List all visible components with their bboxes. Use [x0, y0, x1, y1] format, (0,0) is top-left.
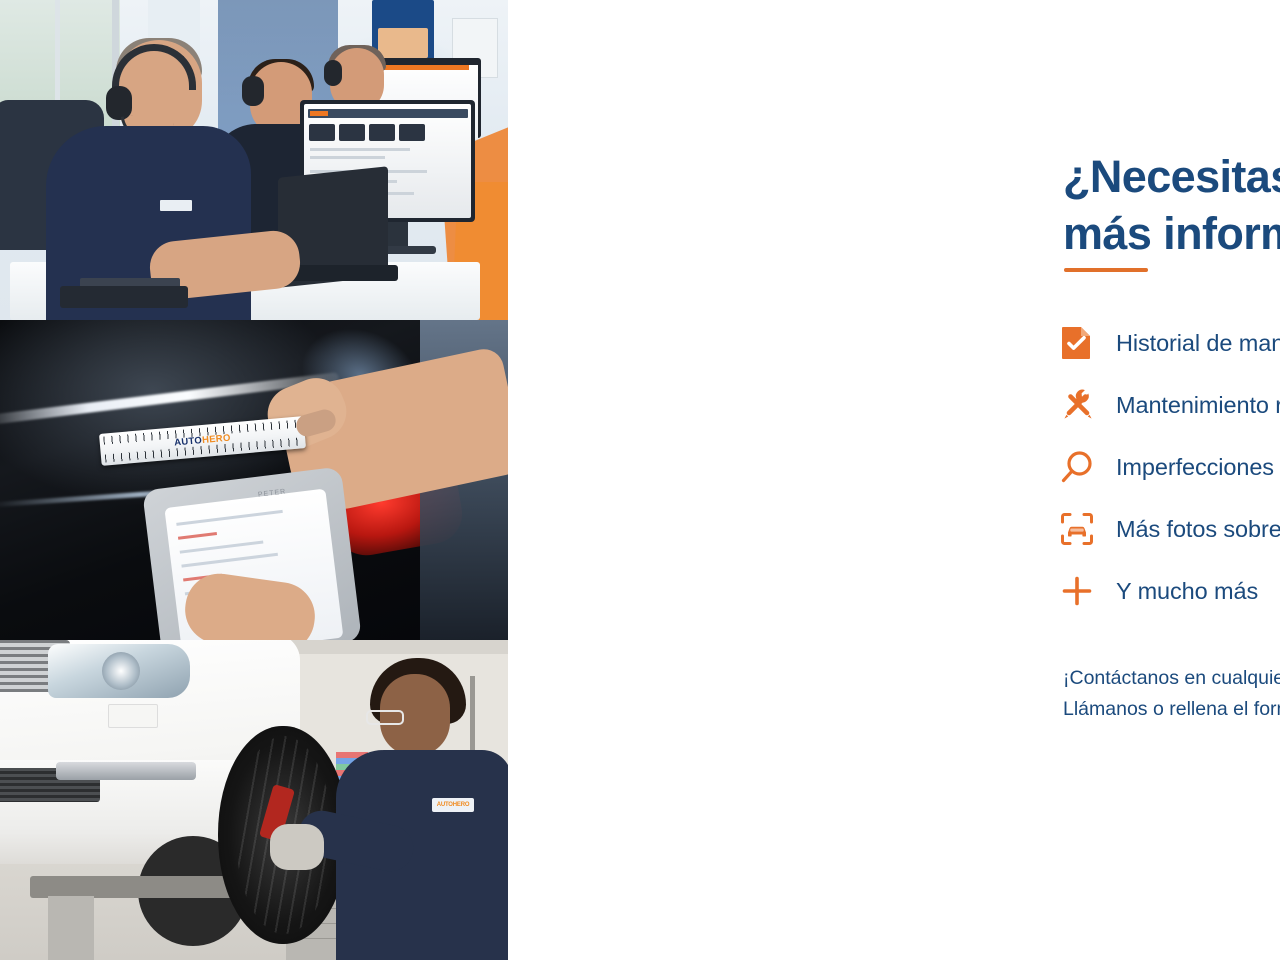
car-lift-leg-decor [48, 896, 94, 960]
magnifier-icon [1060, 450, 1116, 484]
car-scan-icon [1060, 512, 1116, 546]
photo-column: AUTOHERO PETER [0, 0, 508, 960]
feature-item-much-more: Y mucho más [1060, 560, 1280, 622]
feature-item-more-photos: Más fotos sobre el coche [1060, 498, 1280, 560]
bumper-chrome-trim-decor [56, 762, 196, 780]
title-underline-rule [1064, 268, 1148, 272]
promo-page: AUTOHERO PETER [0, 0, 1280, 960]
mechanic-wheel-photo: AUTOHERO [0, 640, 508, 960]
feature-label: Y mucho más [1116, 578, 1258, 605]
call-center-agents-photo [0, 0, 508, 320]
feature-label: Imperfecciones [1116, 454, 1274, 481]
desk-tablet-decor [60, 286, 188, 308]
wrench-screwdriver-icon [1060, 387, 1116, 423]
feature-list: Historial de mantenimientos Mantenimient… [1060, 312, 1280, 622]
page-title-line-2: más información? [1063, 205, 1280, 262]
document-check-icon [1060, 325, 1116, 361]
feature-item-imperfections: Imperfecciones [1060, 436, 1280, 498]
autohero-ruler: AUTOHERO [99, 416, 306, 466]
page-title-line-1: ¿Necesitas [1063, 148, 1280, 205]
car-headlight-decor [48, 644, 190, 698]
feature-label: Historial de mantenimientos [1116, 330, 1280, 357]
plus-icon [1060, 574, 1116, 608]
car-inspection-ruler-photo: AUTOHERO PETER [0, 320, 508, 640]
mechanic-decor: AUTOHERO [336, 658, 508, 960]
feature-item-maintenance-history: Historial de mantenimientos [1060, 312, 1280, 374]
feature-label: Más fotos sobre el coche [1116, 516, 1280, 543]
licence-plate-decor [108, 704, 158, 728]
contact-text-line-1: ¡Contáctanos en cualquier momento para m… [1063, 663, 1280, 695]
feature-item-maintenance-done: Mantenimiento realizado [1060, 374, 1280, 436]
contact-text-line-2: Llámanos o rellena el formulario de cont… [1063, 694, 1280, 726]
contact-text: ¡Contáctanos en cualquier momento para m… [1063, 663, 1280, 726]
page-title: ¿Necesitas más información? [1063, 148, 1280, 262]
mechanic-uniform-logo: AUTOHERO [432, 798, 474, 812]
feature-label: Mantenimiento realizado [1116, 392, 1280, 419]
content-panel: ¿Necesitas más información? Estamos [508, 0, 1280, 960]
